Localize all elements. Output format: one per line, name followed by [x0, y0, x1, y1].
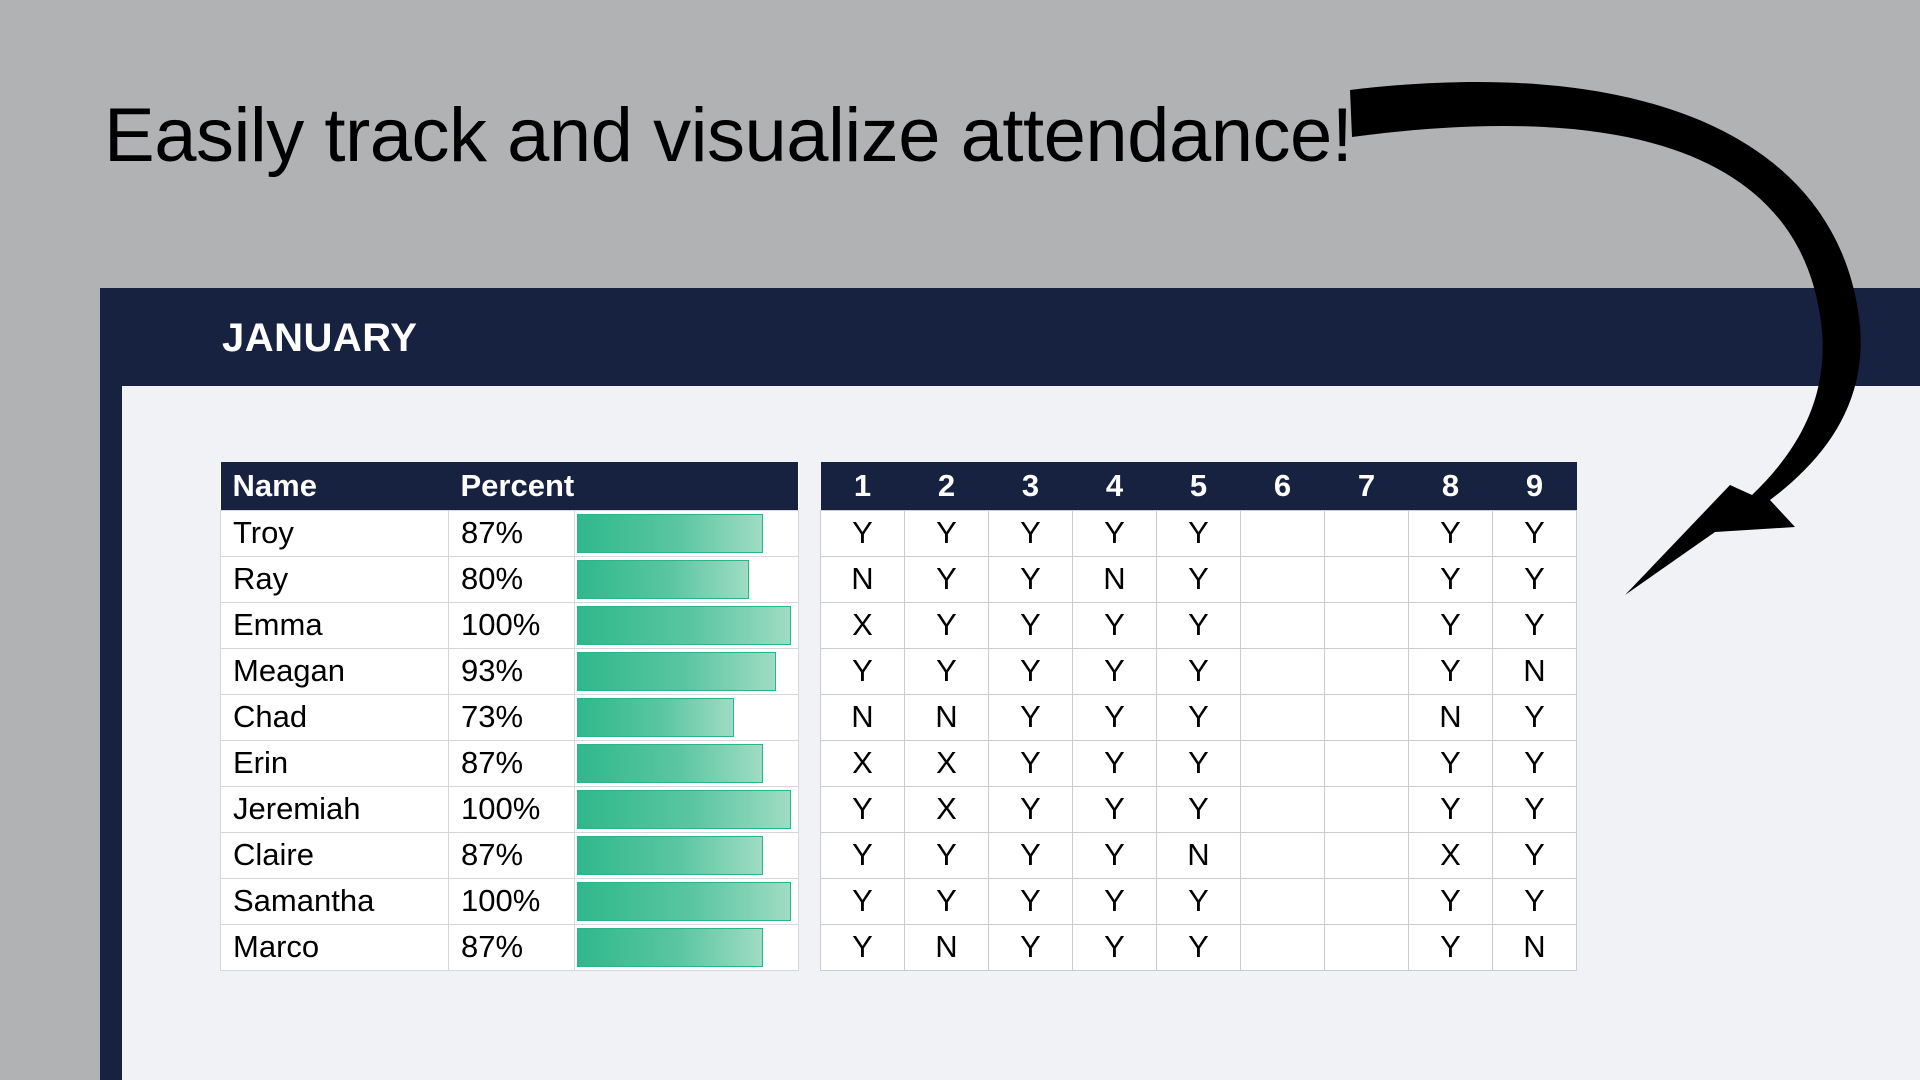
- attendance-row: XYYYYYY: [821, 602, 1577, 648]
- percent-databar: [577, 606, 791, 645]
- student-name-cell[interactable]: Ray: [221, 556, 449, 602]
- percent-databar-cell[interactable]: [574, 924, 798, 970]
- attendance-row: YYYYYYN: [821, 648, 1577, 694]
- attendance-cell[interactable]: Y: [989, 740, 1073, 786]
- attendance-cell[interactable]: Y: [821, 786, 905, 832]
- attendance-cell[interactable]: N: [821, 556, 905, 602]
- attendance-cell[interactable]: Y: [905, 556, 989, 602]
- attendance-cell[interactable]: [1241, 878, 1325, 924]
- attendance-cell[interactable]: Y: [1073, 832, 1157, 878]
- attendance-cell[interactable]: Y: [1493, 694, 1577, 740]
- student-name-cell[interactable]: Emma: [221, 602, 449, 648]
- percent-databar: [577, 744, 763, 783]
- screenshot-root: Easily track and visualize attendance! J…: [0, 0, 1920, 1080]
- attendance-cell[interactable]: [1325, 832, 1409, 878]
- attendance-cell[interactable]: [1241, 924, 1325, 970]
- attendance-cell[interactable]: Y: [989, 510, 1073, 556]
- attendance-cell[interactable]: Y: [1493, 740, 1577, 786]
- attendance-cell[interactable]: Y: [1409, 510, 1493, 556]
- attendance-cell[interactable]: N: [1073, 556, 1157, 602]
- attendance-cell[interactable]: Y: [1493, 832, 1577, 878]
- table-row: Claire87%: [221, 832, 799, 878]
- attendance-cell[interactable]: Y: [1409, 878, 1493, 924]
- attendance-row: YYYYNXY: [821, 832, 1577, 878]
- attendance-cell[interactable]: N: [1157, 832, 1241, 878]
- attendance-cell[interactable]: Y: [905, 878, 989, 924]
- attendance-cell[interactable]: N: [1493, 648, 1577, 694]
- attendance-cell[interactable]: X: [1409, 832, 1493, 878]
- percent-databar-cell[interactable]: [574, 694, 798, 740]
- attendance-cell[interactable]: [1241, 740, 1325, 786]
- summary-header-percent[interactable]: Percent: [449, 462, 575, 510]
- attendance-cell[interactable]: Y: [1493, 878, 1577, 924]
- attendance-cell[interactable]: [1241, 832, 1325, 878]
- percent-databar: [577, 560, 749, 599]
- attendance-cell[interactable]: Y: [1073, 878, 1157, 924]
- table-row: Chad73%: [221, 694, 799, 740]
- percent-cell[interactable]: 100%: [449, 878, 575, 924]
- attendance-row: XXYYYYY: [821, 740, 1577, 786]
- student-name-cell[interactable]: Troy: [221, 510, 449, 556]
- attendance-cell[interactable]: Y: [821, 924, 905, 970]
- attendance-cell[interactable]: Y: [989, 556, 1073, 602]
- percent-databar-cell[interactable]: [574, 878, 798, 924]
- attendance-cell[interactable]: [1325, 648, 1409, 694]
- attendance-cell[interactable]: Y: [905, 832, 989, 878]
- table-row: Meagan93%: [221, 648, 799, 694]
- percent-databar: [577, 928, 763, 967]
- day-header-3[interactable]: 3: [989, 462, 1073, 510]
- attendance-cell[interactable]: Y: [1493, 556, 1577, 602]
- summary-header-row: Name Percent: [221, 462, 799, 510]
- attendance-cell[interactable]: Y: [1157, 556, 1241, 602]
- table-row: Emma100%: [221, 602, 799, 648]
- attendance-row: NYYNYYY: [821, 556, 1577, 602]
- attendance-sheet: JANUARY Name Percent Troy87%Ray80%Emma10…: [100, 288, 1920, 1080]
- attendance-cell[interactable]: Y: [821, 832, 905, 878]
- attendance-cell[interactable]: Y: [1409, 602, 1493, 648]
- table-row: Samantha100%: [221, 878, 799, 924]
- summary-header-name[interactable]: Name: [221, 462, 449, 510]
- attendance-row: YXYYYYY: [821, 786, 1577, 832]
- attendance-cell[interactable]: [1325, 556, 1409, 602]
- attendance-cell[interactable]: Y: [1409, 786, 1493, 832]
- percent-cell[interactable]: 73%: [449, 694, 575, 740]
- student-name-cell[interactable]: Chad: [221, 694, 449, 740]
- percent-databar: [577, 882, 791, 921]
- day-header-2[interactable]: 2: [905, 462, 989, 510]
- percent-databar: [577, 698, 734, 737]
- percent-cell[interactable]: 100%: [449, 786, 575, 832]
- attendance-cell[interactable]: [1241, 510, 1325, 556]
- student-name-cell[interactable]: Claire: [221, 832, 449, 878]
- attendance-cell[interactable]: X: [821, 602, 905, 648]
- attendance-cell[interactable]: Y: [989, 832, 1073, 878]
- attendance-cell[interactable]: Y: [989, 924, 1073, 970]
- percent-databar-cell[interactable]: [574, 510, 798, 556]
- attendance-cell[interactable]: [1325, 602, 1409, 648]
- table-row: Marco87%: [221, 924, 799, 970]
- attendance-cell[interactable]: [1241, 556, 1325, 602]
- day-header-4[interactable]: 4: [1073, 462, 1157, 510]
- attendance-cell[interactable]: [1325, 786, 1409, 832]
- percent-cell[interactable]: 80%: [449, 556, 575, 602]
- percent-databar-cell[interactable]: [574, 648, 798, 694]
- student-name-cell[interactable]: Jeremiah: [221, 786, 449, 832]
- percent-databar: [577, 514, 763, 553]
- attendance-cell[interactable]: Y: [905, 648, 989, 694]
- percent-databar: [577, 836, 763, 875]
- summary-header-bar[interactable]: [574, 462, 798, 510]
- student-name-cell[interactable]: Meagan: [221, 648, 449, 694]
- attendance-cell[interactable]: Y: [989, 648, 1073, 694]
- sheet-left-rail: [100, 386, 122, 1080]
- percent-databar-cell[interactable]: [574, 740, 798, 786]
- attendance-cell[interactable]: Y: [1493, 786, 1577, 832]
- attendance-cell[interactable]: Y: [1157, 786, 1241, 832]
- attendance-cell[interactable]: Y: [989, 878, 1073, 924]
- attendance-cell[interactable]: Y: [1157, 694, 1241, 740]
- sheet-body: Name Percent Troy87%Ray80%Emma100%Meagan…: [122, 386, 1920, 1080]
- attendance-row: NNYYYNY: [821, 694, 1577, 740]
- attendance-cell[interactable]: Y: [1073, 648, 1157, 694]
- day-header-9[interactable]: 9: [1493, 462, 1577, 510]
- day-header-8[interactable]: 8: [1409, 462, 1493, 510]
- attendance-cell[interactable]: N: [821, 694, 905, 740]
- percent-cell[interactable]: 93%: [449, 648, 575, 694]
- attendance-cell[interactable]: N: [1409, 694, 1493, 740]
- attendance-cell[interactable]: Y: [821, 510, 905, 556]
- day-header-1[interactable]: 1: [821, 462, 905, 510]
- attendance-cell[interactable]: Y: [821, 648, 905, 694]
- percent-databar-cell[interactable]: [574, 786, 798, 832]
- attendance-cell[interactable]: Y: [1493, 602, 1577, 648]
- day-header-6[interactable]: 6: [1241, 462, 1325, 510]
- attendance-cell[interactable]: Y: [1409, 740, 1493, 786]
- percent-cell[interactable]: 87%: [449, 740, 575, 786]
- attendance-cell[interactable]: [1325, 510, 1409, 556]
- attendance-row: YYYYYYY: [821, 878, 1577, 924]
- attendance-cell[interactable]: Y: [1157, 602, 1241, 648]
- table-row: Jeremiah100%: [221, 786, 799, 832]
- percent-databar: [577, 790, 791, 829]
- attendance-cell[interactable]: X: [905, 740, 989, 786]
- attendance-cell[interactable]: N: [1493, 924, 1577, 970]
- day-header-7[interactable]: 7: [1325, 462, 1409, 510]
- percent-databar-cell[interactable]: [574, 832, 798, 878]
- attendance-cell[interactable]: Y: [1073, 740, 1157, 786]
- percent-databar-cell[interactable]: [574, 602, 798, 648]
- student-name-cell[interactable]: Marco: [221, 924, 449, 970]
- table-row: Troy87%: [221, 510, 799, 556]
- summary-table: Name Percent Troy87%Ray80%Emma100%Meagan…: [220, 462, 799, 971]
- month-title: JANUARY: [222, 316, 417, 361]
- attendance-cell[interactable]: Y: [905, 510, 989, 556]
- attendance-row: YYYYYYY: [821, 510, 1577, 556]
- attendance-cell[interactable]: N: [905, 694, 989, 740]
- attendance-cell[interactable]: X: [905, 786, 989, 832]
- table-row: Erin87%: [221, 740, 799, 786]
- attendance-body: YYYYYYYNYYNYYYXYYYYYYYYYYYYNNNYYYNYXXYYY…: [821, 510, 1577, 970]
- summary-body: Troy87%Ray80%Emma100%Meagan93%Chad73%Eri…: [221, 510, 799, 970]
- attendance-cell[interactable]: [1325, 924, 1409, 970]
- attendance-cell[interactable]: Y: [1409, 924, 1493, 970]
- attendance-cell[interactable]: Y: [1157, 924, 1241, 970]
- student-name-cell[interactable]: Erin: [221, 740, 449, 786]
- percent-databar: [577, 652, 776, 691]
- attendance-cell[interactable]: Y: [1073, 694, 1157, 740]
- attendance-cell[interactable]: Y: [1073, 786, 1157, 832]
- attendance-cell[interactable]: Y: [905, 602, 989, 648]
- attendance-cell[interactable]: Y: [1073, 602, 1157, 648]
- attendance-cell[interactable]: [1325, 740, 1409, 786]
- percent-databar-cell[interactable]: [574, 556, 798, 602]
- attendance-cell[interactable]: [1325, 878, 1409, 924]
- percent-cell[interactable]: 87%: [449, 924, 575, 970]
- percent-cell[interactable]: 87%: [449, 832, 575, 878]
- attendance-cell[interactable]: Y: [1157, 740, 1241, 786]
- attendance-cell[interactable]: N: [905, 924, 989, 970]
- attendance-header-row: 123456789: [821, 462, 1577, 510]
- day-header-5[interactable]: 5: [1157, 462, 1241, 510]
- attendance-cell[interactable]: Y: [989, 694, 1073, 740]
- attendance-cell[interactable]: Y: [1157, 510, 1241, 556]
- attendance-row: YNYYYYN: [821, 924, 1577, 970]
- attendance-cell[interactable]: X: [821, 740, 905, 786]
- attendance-cell[interactable]: [1241, 786, 1325, 832]
- attendance-cell[interactable]: Y: [1073, 510, 1157, 556]
- attendance-cell[interactable]: Y: [1157, 878, 1241, 924]
- attendance-cell[interactable]: Y: [1409, 648, 1493, 694]
- attendance-cell[interactable]: [1241, 694, 1325, 740]
- attendance-cell[interactable]: Y: [1409, 556, 1493, 602]
- attendance-cell[interactable]: Y: [1157, 648, 1241, 694]
- page-title: Easily track and visualize attendance!: [104, 93, 1352, 179]
- attendance-cell[interactable]: Y: [989, 786, 1073, 832]
- attendance-cell[interactable]: Y: [1493, 510, 1577, 556]
- attendance-grid: 123456789 YYYYYYYNYYNYYYXYYYYYYYYYYYYNNN…: [820, 462, 1577, 971]
- percent-cell[interactable]: 100%: [449, 602, 575, 648]
- attendance-cell[interactable]: [1325, 694, 1409, 740]
- attendance-cell[interactable]: [1241, 602, 1325, 648]
- attendance-cell[interactable]: Y: [989, 602, 1073, 648]
- attendance-cell[interactable]: Y: [1073, 924, 1157, 970]
- student-name-cell[interactable]: Samantha: [221, 878, 449, 924]
- attendance-cell[interactable]: Y: [821, 878, 905, 924]
- table-row: Ray80%: [221, 556, 799, 602]
- percent-cell[interactable]: 87%: [449, 510, 575, 556]
- attendance-cell[interactable]: [1241, 648, 1325, 694]
